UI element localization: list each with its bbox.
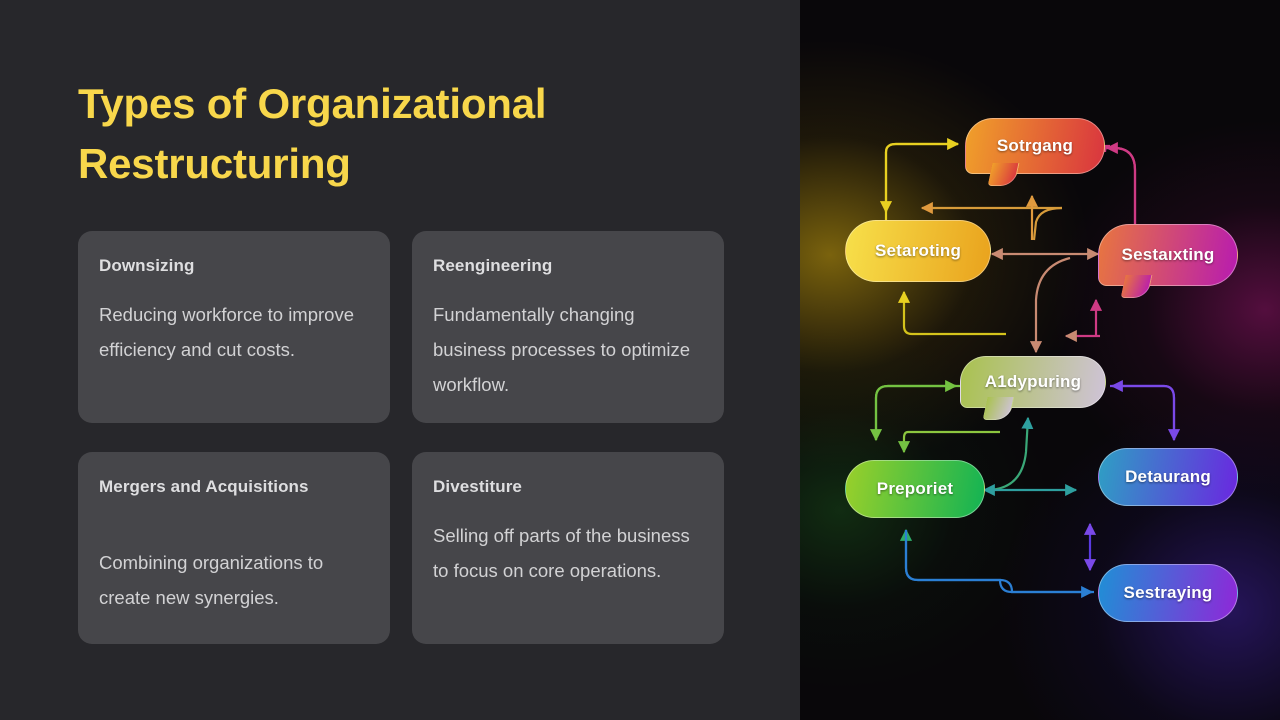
diagram-node-label: Preporiet [877,479,953,499]
card-divestiture: Divestiture Selling off parts of the bus… [412,452,724,644]
diagram-node-label: Sotrgang [997,136,1073,156]
diagram-node-label: Detaurang [1125,467,1211,487]
diagram-node-detaurang[interactable]: Detaurang [1098,448,1238,506]
diagram-node-label: A1dypuring [985,372,1081,392]
diagram-node-label: Sestraying [1124,583,1213,603]
diagram-node-sestaixting[interactable]: Sestaıxting [1098,224,1238,286]
card-title: Divestiture [433,477,700,497]
diagram-node-a1dypuring[interactable]: A1dypuring [960,356,1106,408]
card-reengineering: Reengineering Fundamentally changing bus… [412,231,724,423]
content-panel: Types of Organizational Restructuring Do… [0,0,800,720]
diagram-panel: Sotrgang Setaroting Sestaıxting A1dypuri… [800,0,1280,720]
card-title: Reengineering [433,256,700,276]
card-downsizing: Downsizing Reducing workforce to improve… [78,231,390,423]
diagram-node-sestraying[interactable]: Sestraying [1098,564,1238,622]
slide-root: Types of Organizational Restructuring Do… [0,0,1280,720]
card-body: Reducing workforce to improve efficiency… [99,298,366,368]
card-title: Downsizing [99,256,366,276]
card-body: Selling off parts of the business to foc… [433,519,700,589]
diagram-node-preporiet[interactable]: Preporiet [845,460,985,518]
card-body: Fundamentally changing business processe… [433,298,700,402]
card-title: Mergers and Acquisitions [99,477,366,497]
restructuring-types-grid: Downsizing Reducing workforce to improve… [78,231,724,644]
page-title: Types of Organizational Restructuring [78,74,638,195]
diagram-node-setaroting[interactable]: Setaroting [845,220,991,282]
diagram-node-label: Setaroting [875,241,961,261]
diagram-node-label: Sestaıxting [1122,245,1215,265]
card-body: Combining organizations to create new sy… [99,546,366,616]
diagram-node-sotrgang[interactable]: Sotrgang [965,118,1105,174]
card-mergers-and-acquisitions: Mergers and Acquisitions Combining organ… [78,452,390,644]
